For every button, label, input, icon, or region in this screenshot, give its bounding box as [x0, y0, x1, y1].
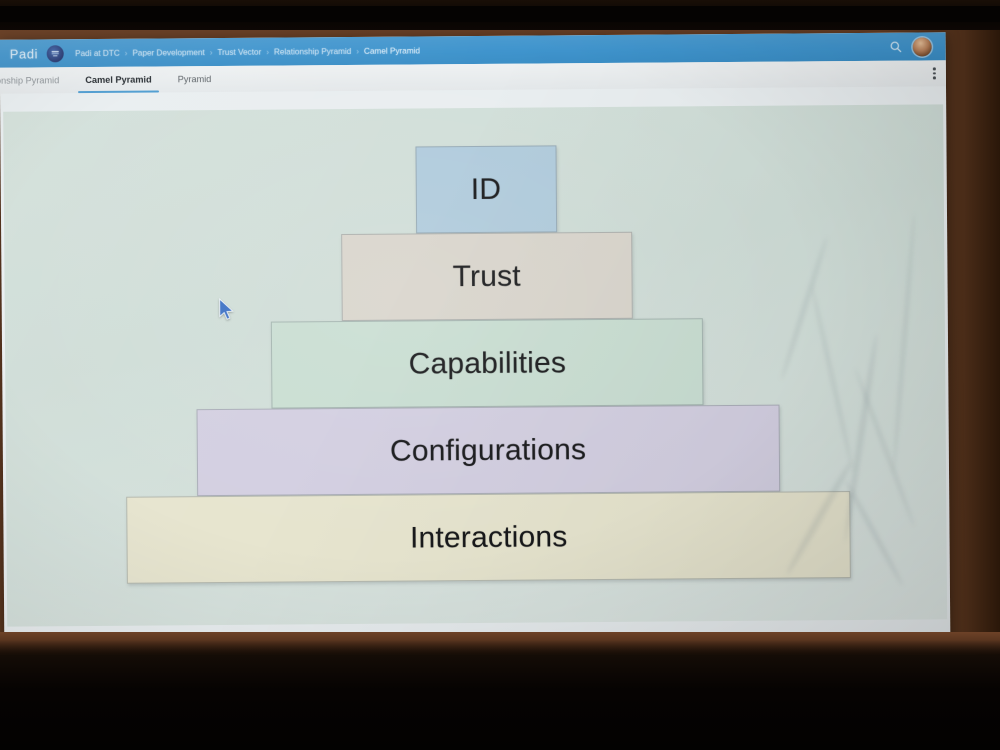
- breadcrumb-item-0[interactable]: Padi at DTC: [75, 48, 120, 57]
- app-brand-label: Padi: [10, 46, 39, 61]
- avatar[interactable]: [913, 37, 932, 56]
- padi-circle-logo-icon[interactable]: [47, 45, 64, 62]
- camel-pyramid-diagram: ID Trust Capabilities Configurations Int…: [3, 104, 947, 626]
- floor-shadow: [0, 640, 1000, 750]
- tab-relationship-pyramid[interactable]: onship Pyramid: [0, 67, 72, 94]
- breadcrumb-item-2[interactable]: Trust Vector: [217, 47, 261, 56]
- pyramid-level-label: Capabilities: [409, 348, 567, 379]
- pyramid-level-label: Trust: [452, 261, 520, 292]
- mouse-pointer-arrow-icon: [219, 298, 237, 322]
- breadcrumb-item-1[interactable]: Paper Development: [132, 48, 204, 58]
- pyramid-level-label: ID: [471, 174, 502, 204]
- slide-canvas: ID Trust Capabilities Configurations Int…: [3, 104, 947, 626]
- breadcrumb-item-4[interactable]: Camel Pyramid: [364, 46, 420, 55]
- breadcrumb-separator: ›: [265, 47, 270, 56]
- projector-screen-rail: [0, 6, 1000, 22]
- pyramid-level-capabilities[interactable]: Capabilities: [271, 318, 704, 408]
- search-icon[interactable]: [889, 40, 903, 54]
- pyramid-level-trust[interactable]: Trust: [341, 232, 633, 321]
- app-bar-actions: [889, 37, 938, 56]
- pyramid-level-label: Configurations: [390, 435, 586, 467]
- pyramid-level-id[interactable]: ID: [415, 145, 557, 233]
- breadcrumb[interactable]: Padi at DTC › Paper Development › Trust …: [75, 46, 420, 58]
- kebab-menu-icon[interactable]: [933, 67, 936, 79]
- breadcrumb-separator: ›: [209, 48, 214, 57]
- photograph-of-projected-screen: Padi Padi at DTC › Paper Development › T…: [0, 0, 1000, 750]
- tab-camel-pyramid[interactable]: Camel Pyramid: [72, 66, 165, 93]
- pyramid-level-configurations[interactable]: Configurations: [196, 405, 779, 497]
- breadcrumb-separator: ›: [124, 48, 129, 57]
- pyramid-level-label: Interactions: [410, 522, 568, 553]
- pyramid-level-interactions[interactable]: Interactions: [127, 491, 851, 584]
- projector-screen: Padi Padi at DTC › Paper Development › T…: [0, 32, 950, 653]
- breadcrumb-separator: ›: [355, 46, 360, 55]
- tab-pyramid[interactable]: Pyramid: [165, 66, 225, 92]
- breadcrumb-item-3[interactable]: Relationship Pyramid: [274, 46, 351, 56]
